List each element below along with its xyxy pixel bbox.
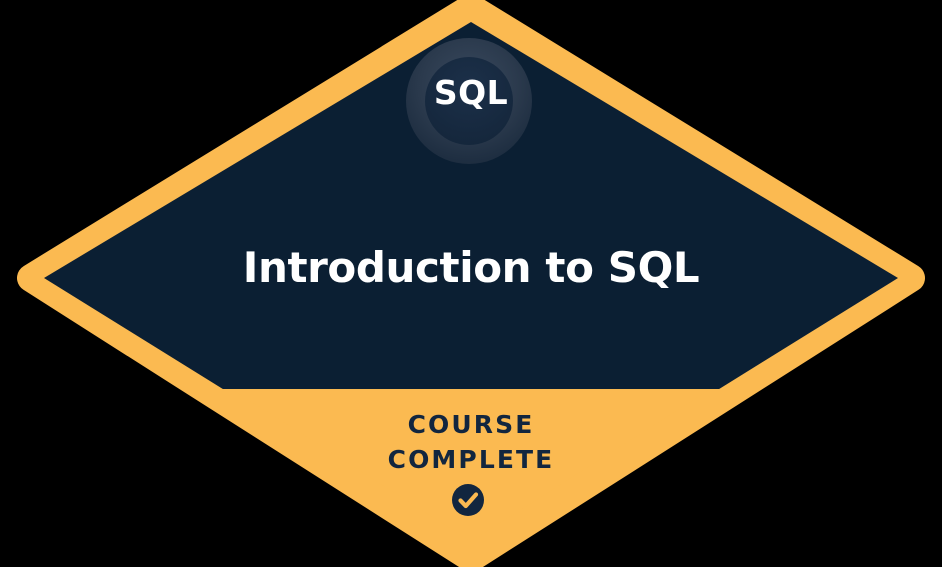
badge-diamond-shape xyxy=(0,0,942,567)
course-completion-badge: SQL Introduction to SQL COURSE COMPLETE xyxy=(0,0,942,567)
emblem-inner-circle xyxy=(425,57,513,145)
check-circle-icon xyxy=(452,484,484,516)
